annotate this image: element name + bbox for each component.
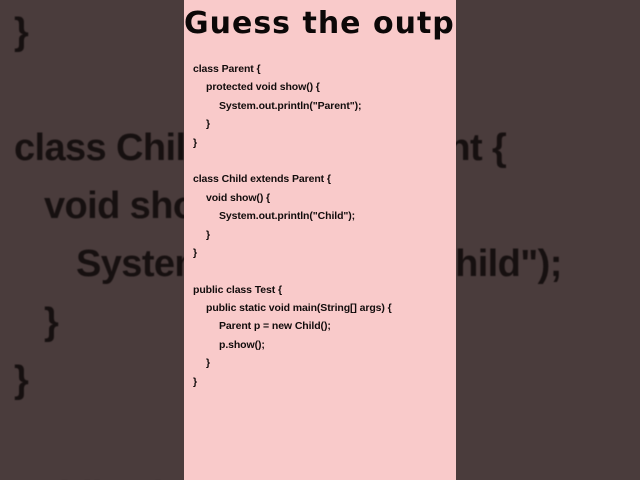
code-line-blank [193, 152, 455, 170]
code-line: class Child extends Parent { [193, 170, 455, 188]
java-code-block: class Parent {protected void show() {Sys… [193, 60, 455, 391]
screenshot-canvas: }class Child extends Parent {void show()… [0, 0, 640, 480]
code-line: } [193, 244, 455, 262]
code-line: class Parent { [193, 60, 455, 78]
code-line: void show() { [193, 189, 455, 207]
code-line: public static void main(String[] args) { [193, 299, 455, 317]
code-line: public class Test { [193, 281, 455, 299]
code-line: protected void show() { [193, 78, 455, 96]
code-line-blank [193, 262, 455, 280]
content-card: Guess the output [184, 0, 456, 480]
code-line: p.show(); [193, 336, 455, 354]
code-line: } [193, 373, 455, 391]
code-line: } [193, 115, 455, 133]
code-line: } [193, 226, 455, 244]
code-line: System.out.println("Parent"); [193, 97, 455, 115]
code-line: Parent p = new Child(); [193, 317, 455, 335]
page-title: Guess the output [184, 6, 456, 41]
code-line: System.out.println("Child"); [193, 207, 455, 225]
code-line: } [193, 354, 455, 372]
code-line: } [193, 134, 455, 152]
